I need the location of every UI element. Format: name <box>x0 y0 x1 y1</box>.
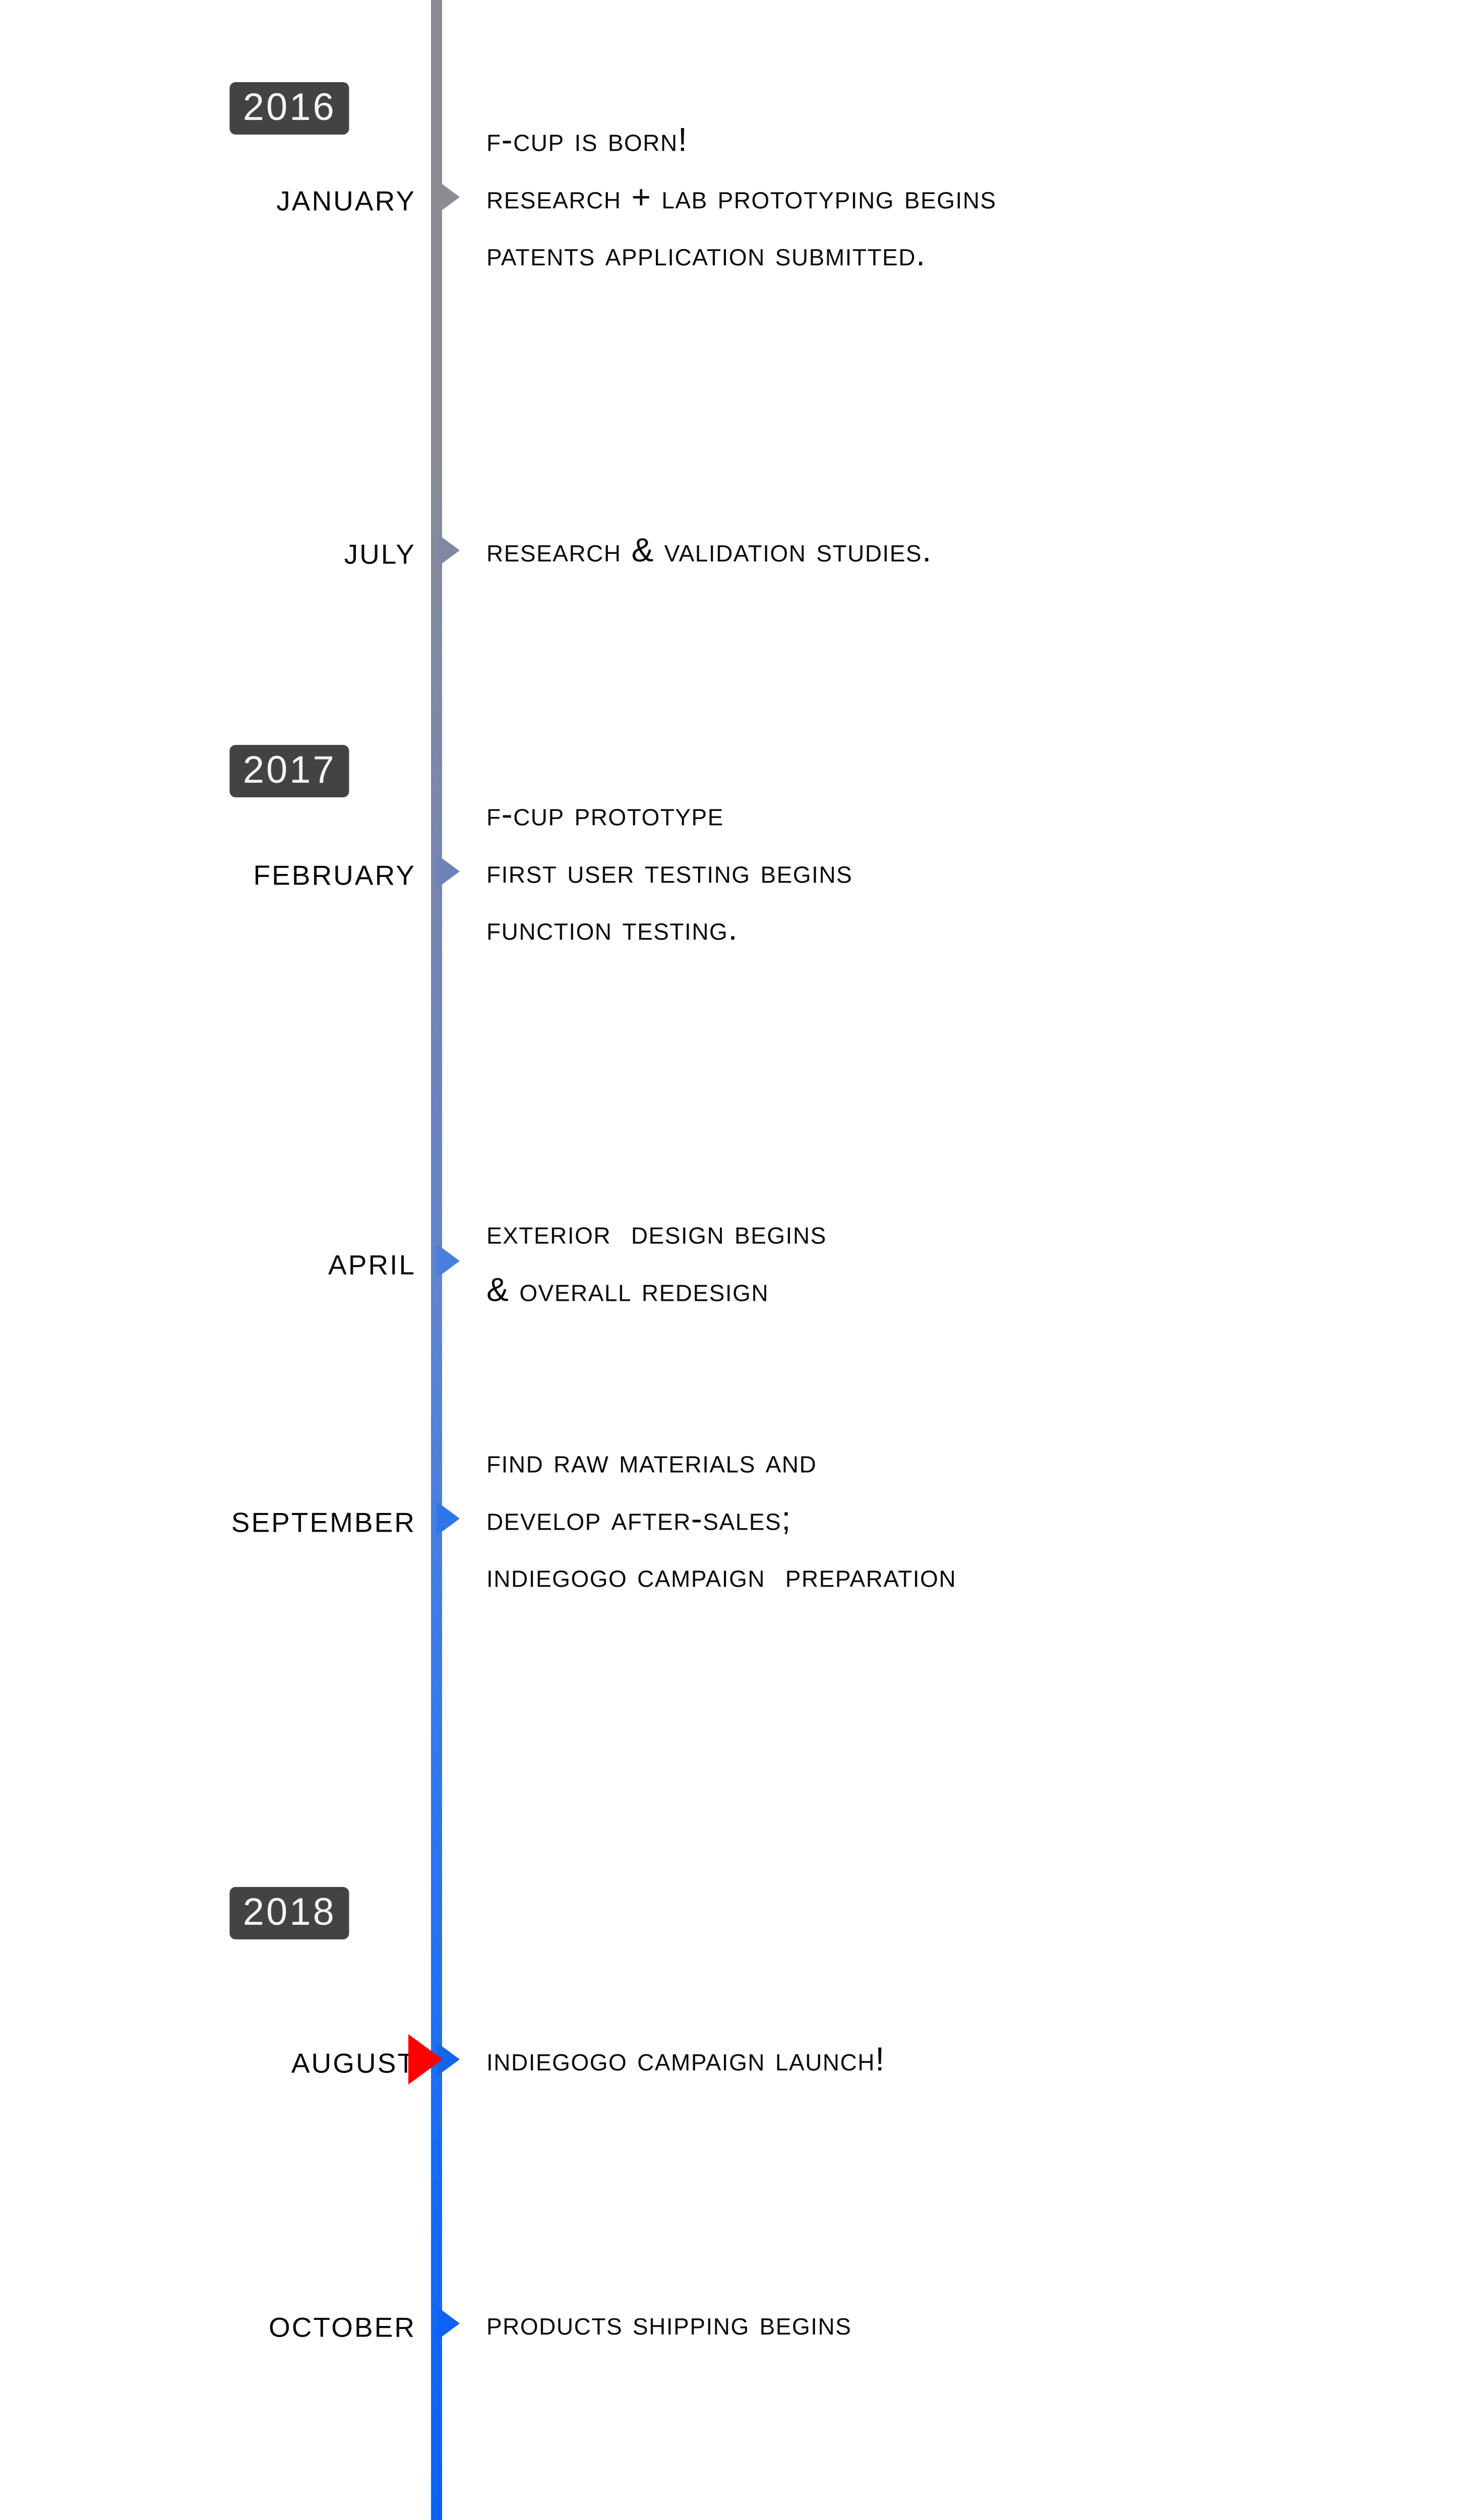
event-line: & overall redesign <box>486 1261 1474 1318</box>
event-line: Products Shipping Begins <box>486 2295 1474 2352</box>
event-line: Research + lab prototyping begins <box>486 168 1474 226</box>
event-line: Research & validation studies. <box>486 522 1474 579</box>
event-line: Patents application submitted. <box>486 226 1474 283</box>
event-line: indiegogo campaign launch! <box>486 2031 1474 2088</box>
year-badge-2017: 2017 <box>230 745 349 797</box>
timeline-marker-arrow-icon <box>437 2306 460 2341</box>
event-group: Products Shipping Begins <box>486 2295 1474 2352</box>
month-label-july: July <box>344 527 416 573</box>
timeline-marker-arrow-icon <box>437 854 460 889</box>
timeline-marker-arrow-icon <box>437 533 460 568</box>
event-group: F-cup prototypeFirst user testing begins… <box>486 786 1474 958</box>
event-line: Indiegogo campaign preparation <box>486 1547 1474 1605</box>
event-line: F-cup is born! <box>486 111 1474 169</box>
month-label-september: September <box>231 1496 416 1542</box>
month-label-january: January <box>276 174 416 220</box>
timeline-marker-arrow-icon <box>437 1244 460 1278</box>
event-line: F-cup prototype <box>486 786 1474 843</box>
event-group: Research & validation studies. <box>486 522 1474 579</box>
timeline-marker-arrow-icon <box>437 1501 460 1536</box>
event-group: Find raw materials anddevelop after-sale… <box>486 1433 1474 1605</box>
year-badge-2016: 2016 <box>230 82 349 135</box>
month-label-october: October <box>269 2300 416 2346</box>
timeline-marker-arrow-icon <box>437 180 460 214</box>
highlight-marker-icon <box>408 2034 443 2085</box>
event-group: Exterior design begins& overall redesign <box>486 1204 1474 1318</box>
event-line: function testing. <box>486 900 1474 958</box>
event-group: F-cup is born!Research + lab prototyping… <box>486 111 1474 283</box>
event-line: develop after-sales; <box>486 1490 1474 1547</box>
year-badge-2018: 2018 <box>230 1887 349 1939</box>
event-group: indiegogo campaign launch! <box>486 2031 1474 2088</box>
month-label-august: August <box>291 2036 416 2082</box>
event-line: First user testing begins <box>486 843 1474 900</box>
month-label-february: February <box>253 849 416 895</box>
month-label-april: April <box>328 1238 416 1284</box>
event-line: Find raw materials and <box>486 1433 1474 1490</box>
event-line: Exterior design begins <box>486 1204 1474 1262</box>
